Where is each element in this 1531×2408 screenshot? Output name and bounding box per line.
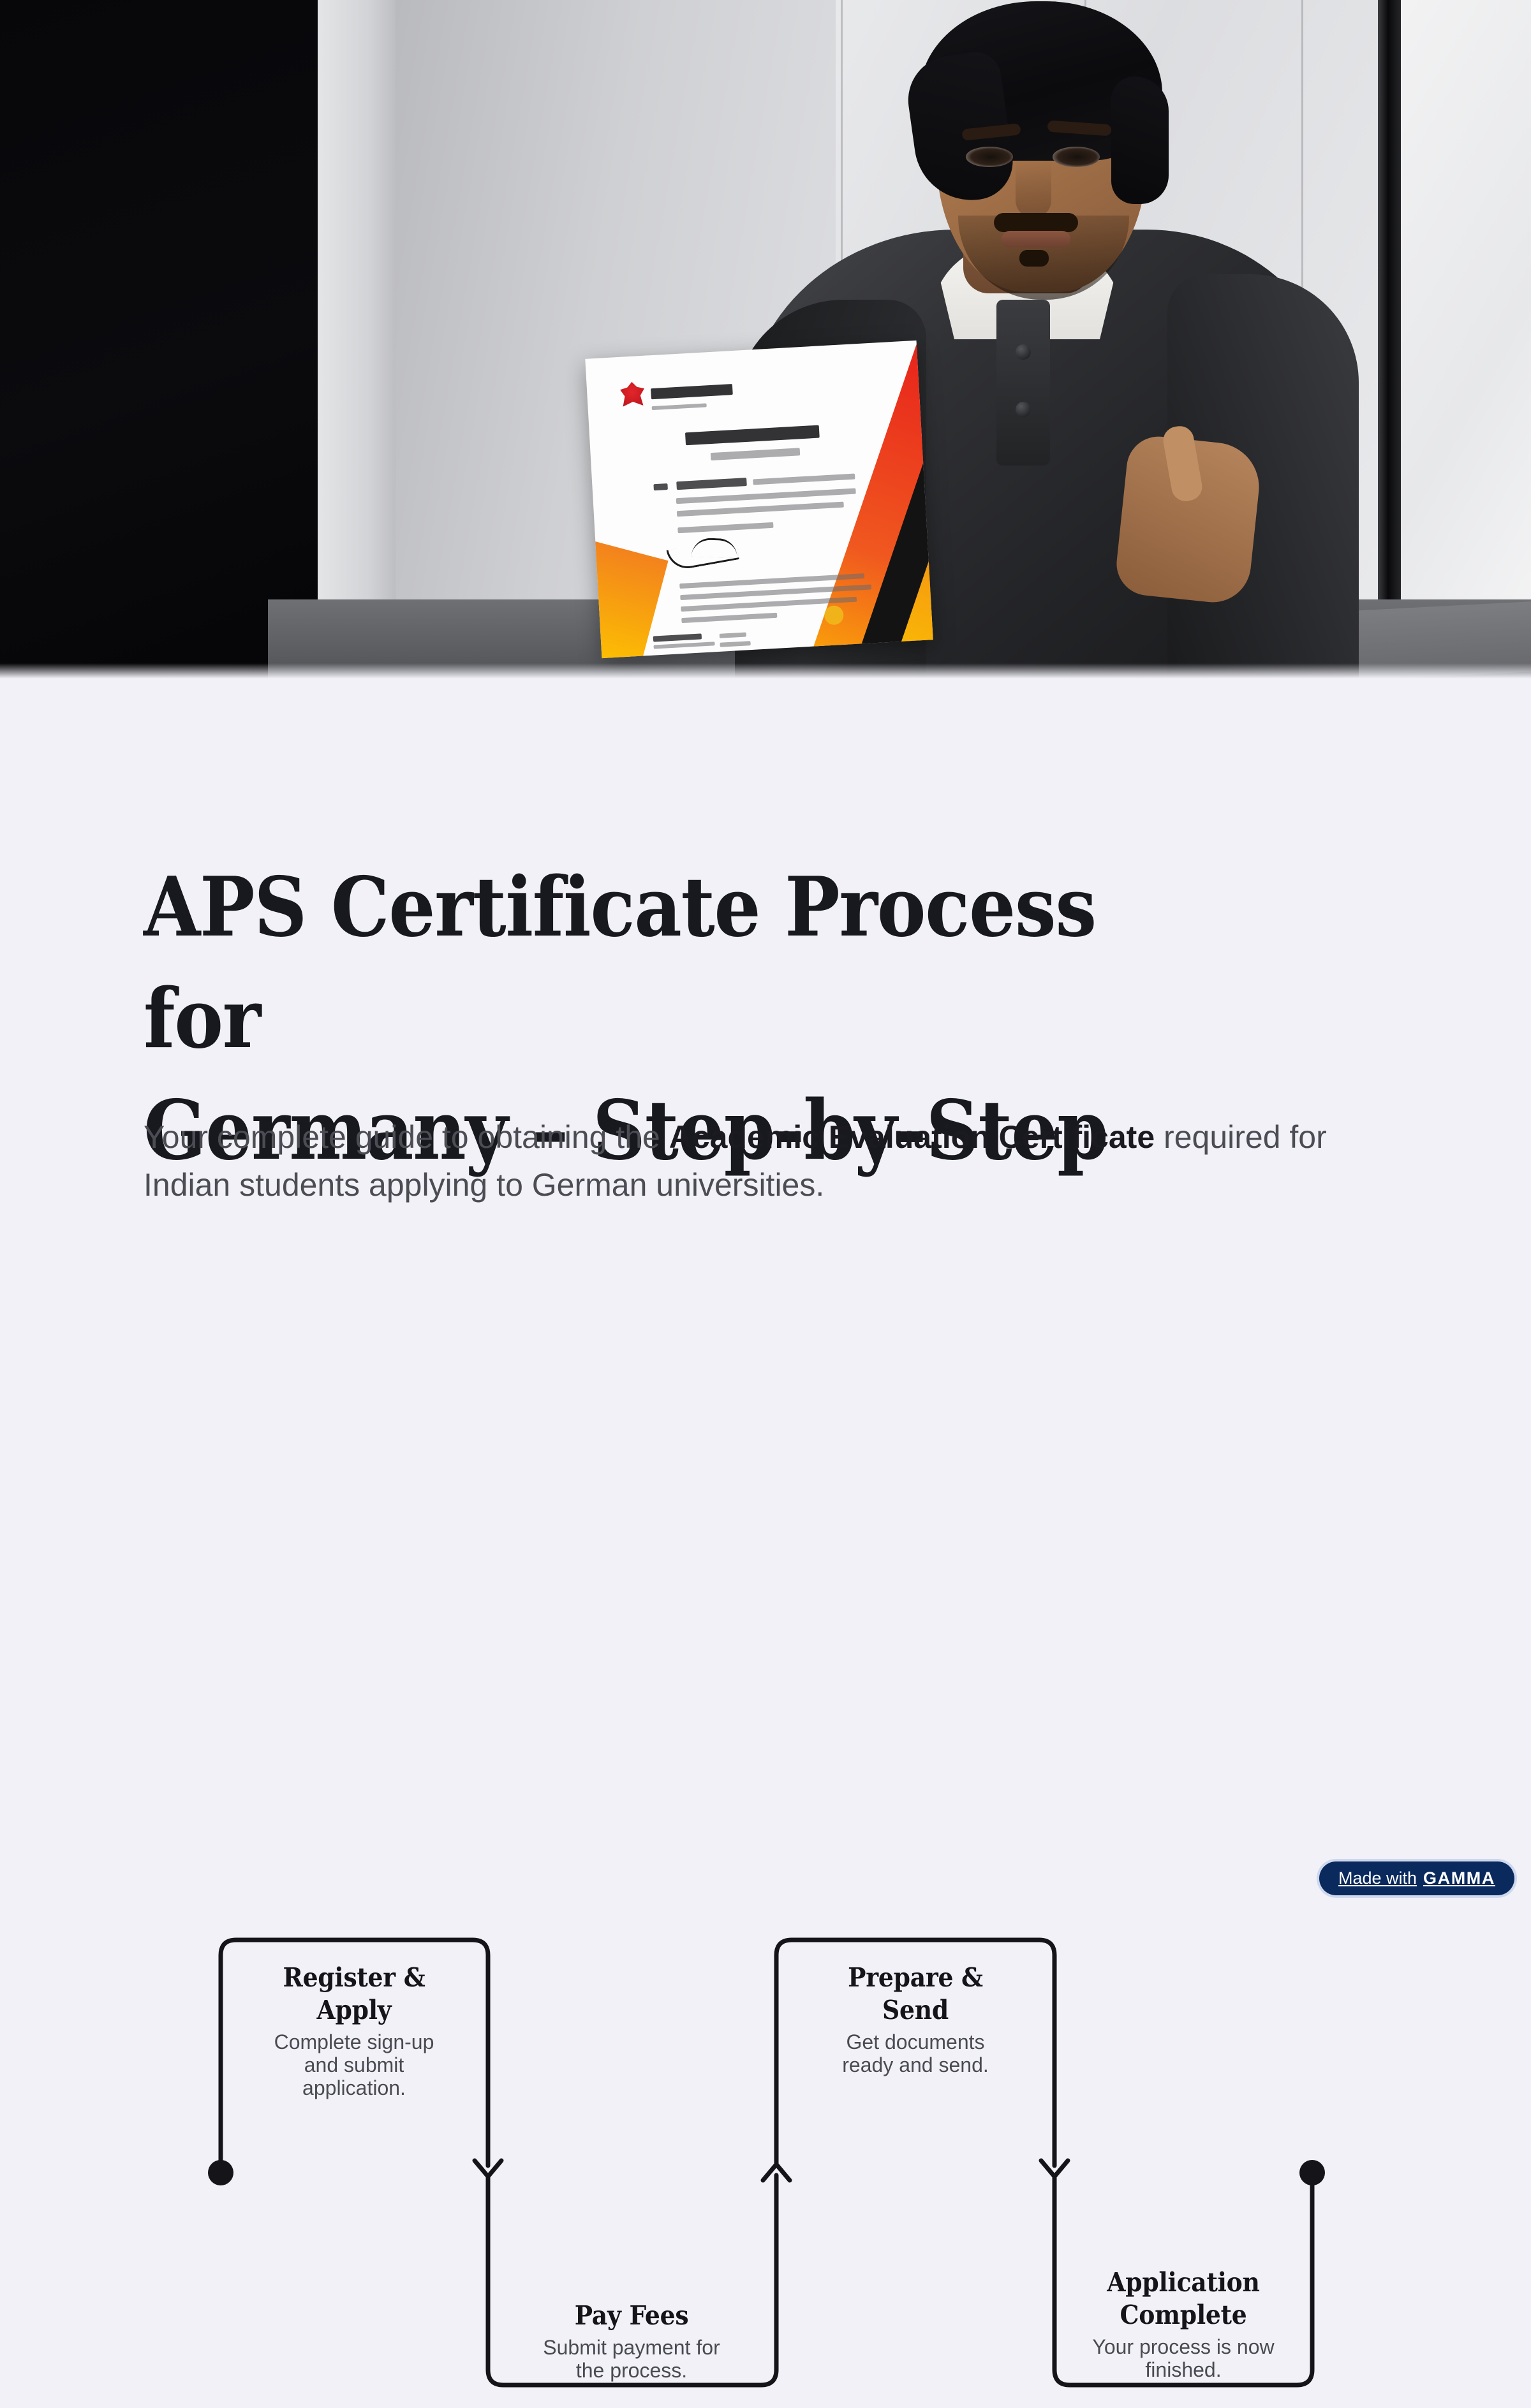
german-flag-stripes	[769, 341, 933, 658]
certificate-footnote	[681, 613, 777, 623]
shirt-button	[1016, 344, 1031, 360]
eye-right	[1053, 147, 1100, 167]
eye-left	[966, 147, 1013, 167]
certificate-body-line	[653, 483, 668, 490]
certificate-emblem-icon	[619, 381, 645, 407]
backdrop-dark-panel	[0, 0, 319, 680]
backdrop-column	[318, 0, 401, 644]
flow-step-application-complete[interactable]: Application Complete Your process is now…	[1088, 2266, 1279, 2381]
certificate-issuer	[651, 384, 733, 399]
process-flow-diagram: Register & Apply Complete sign-up and su…	[0, 1885, 1531, 2408]
certificate-footer	[720, 641, 750, 647]
flow-step-title: Application Complete	[1095, 2266, 1271, 2331]
certificate-body-line	[677, 522, 773, 533]
aps-certificate	[585, 341, 933, 658]
hero-bottom-fade	[0, 663, 1531, 680]
gamma-logo-text: GAMMA	[1423, 1870, 1495, 1887]
flow-end-dot	[1299, 2160, 1325, 2185]
soul-patch	[1019, 250, 1049, 267]
backdrop-dark-strip	[1378, 0, 1401, 638]
certificate-footer	[654, 642, 715, 649]
certificate-footer	[720, 632, 746, 638]
flow-step-register-apply[interactable]: Register & Apply Complete sign-up and su…	[258, 1962, 450, 2099]
certificate-footer	[653, 633, 702, 642]
nose	[1016, 161, 1051, 218]
page-subtitle: Your complete guide to obtaining the Aca…	[144, 1113, 1368, 1209]
badge-prefix: Made with	[1338, 1870, 1417, 1887]
certificate-issuer-sub	[652, 403, 707, 410]
shirt-button	[1016, 402, 1031, 417]
subtitle-highlight: Academic Evaluation Certificate	[669, 1119, 1155, 1155]
backdrop-wall-far	[1401, 0, 1531, 642]
flow-step-desc: Submit payment for the process.	[536, 2336, 727, 2382]
studio-scene	[0, 0, 1531, 680]
subtitle-text-before: Your complete guide to obtaining the	[144, 1119, 669, 1155]
mouth	[1002, 231, 1070, 247]
moustache	[994, 213, 1078, 232]
henley-placket	[996, 300, 1050, 466]
made-with-gamma-badge[interactable]: Made with GAMMA	[1319, 1861, 1514, 1895]
flow-step-title: Pay Fees	[544, 2300, 720, 2332]
flow-step-pay-fees[interactable]: Pay Fees Submit payment for the process.	[536, 2300, 727, 2382]
flow-step-desc: Complete sign-up and submit application.	[258, 2030, 450, 2099]
page-title-line-1: APS Certificate Process for	[144, 860, 1096, 1067]
flow-step-desc: Your process is now finished.	[1088, 2335, 1279, 2381]
flow-step-desc: Get documents ready and send.	[820, 2030, 1011, 2076]
flow-start-dot	[208, 2160, 233, 2185]
flow-step-prepare-send[interactable]: Prepare & Send Get documents ready and s…	[820, 1962, 1011, 2076]
flow-connector-svg	[0, 1885, 1531, 2408]
flow-step-title: Register & Apply	[266, 1962, 442, 2027]
certificate-body-line	[676, 478, 747, 490]
flow-step-title: Prepare & Send	[827, 1962, 1003, 2027]
hero-image	[0, 0, 1531, 680]
hair-sideburn	[1111, 77, 1169, 204]
